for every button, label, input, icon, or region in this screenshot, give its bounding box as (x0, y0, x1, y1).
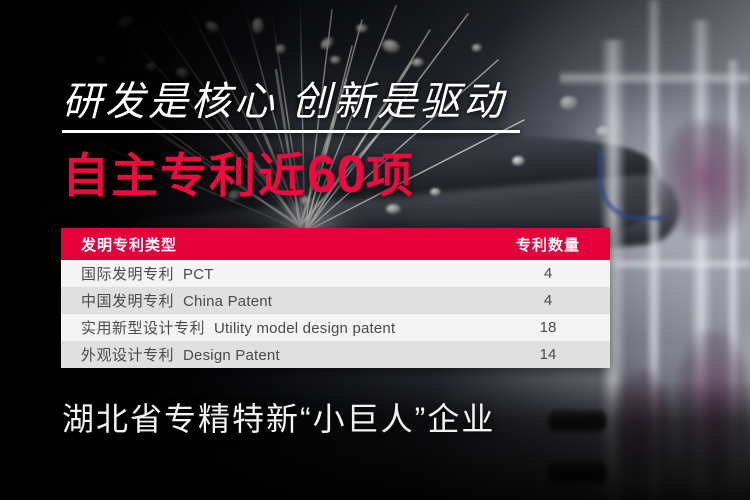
patent-type-cn: 实用新型设计专利 (81, 320, 205, 337)
patent-table: 发明专利类型 专利数量 国际发明专利PCT 4 中国发明专利China Pate… (61, 228, 610, 368)
patent-type-cn: 中国发明专利 (81, 293, 174, 310)
cell-patent-type: 国际发明专利PCT (61, 260, 494, 287)
cell-patent-type: 外观设计专利Design Patent (61, 341, 494, 368)
column-header-type: 发明专利类型 (61, 228, 494, 260)
headline-secondary: 自主专利近60项 (62, 148, 415, 203)
patent-type-cn: 国际发明专利 (81, 266, 174, 283)
column-header-count: 专利数量 (494, 228, 610, 260)
patent-type-cn: 外观设计专利 (81, 347, 174, 364)
cell-patent-count: 14 (494, 341, 610, 368)
cell-patent-count: 18 (494, 314, 610, 341)
poster-content: 研发是核心 创新是驱动 自主专利近60项 发明专利类型 专利数量 国际发明专利P… (0, 0, 750, 500)
table-row: 国际发明专利PCT 4 (61, 260, 610, 287)
table-header-row: 发明专利类型 专利数量 (61, 228, 610, 260)
headline-secondary-number: 60 (307, 145, 366, 204)
patent-type-en: Design Patent (183, 347, 280, 364)
cell-patent-type: 中国发明专利China Patent (61, 287, 494, 314)
headline-divider-rule (62, 130, 520, 133)
patent-type-en: Utility model design patent (214, 320, 395, 337)
table-row: 外观设计专利Design Patent 14 (61, 341, 610, 368)
table-row: 中国发明专利China Patent 4 (61, 287, 610, 314)
poster-caption: 湖北省专精特新“小巨人”企业 (62, 398, 495, 440)
cell-patent-count: 4 (494, 260, 610, 287)
headline-secondary-prefix: 自主专利近 (62, 149, 307, 202)
patent-type-en: China Patent (183, 293, 272, 310)
poster-canvas: 研发是核心 创新是驱动 自主专利近60项 发明专利类型 专利数量 国际发明专利P… (0, 0, 750, 500)
patent-type-en: PCT (183, 266, 214, 283)
headline-primary: 研发是核心 创新是驱动 (62, 79, 506, 125)
cell-patent-count: 4 (494, 287, 610, 314)
table-row: 实用新型设计专利Utility model design patent 18 (61, 314, 610, 341)
headline-secondary-suffix: 项 (366, 149, 415, 202)
patent-table-header: 发明专利类型 专利数量 (61, 228, 610, 260)
patent-table-body: 国际发明专利PCT 4 中国发明专利China Patent 4 实用新型设计专… (61, 260, 610, 368)
cell-patent-type: 实用新型设计专利Utility model design patent (61, 314, 494, 341)
